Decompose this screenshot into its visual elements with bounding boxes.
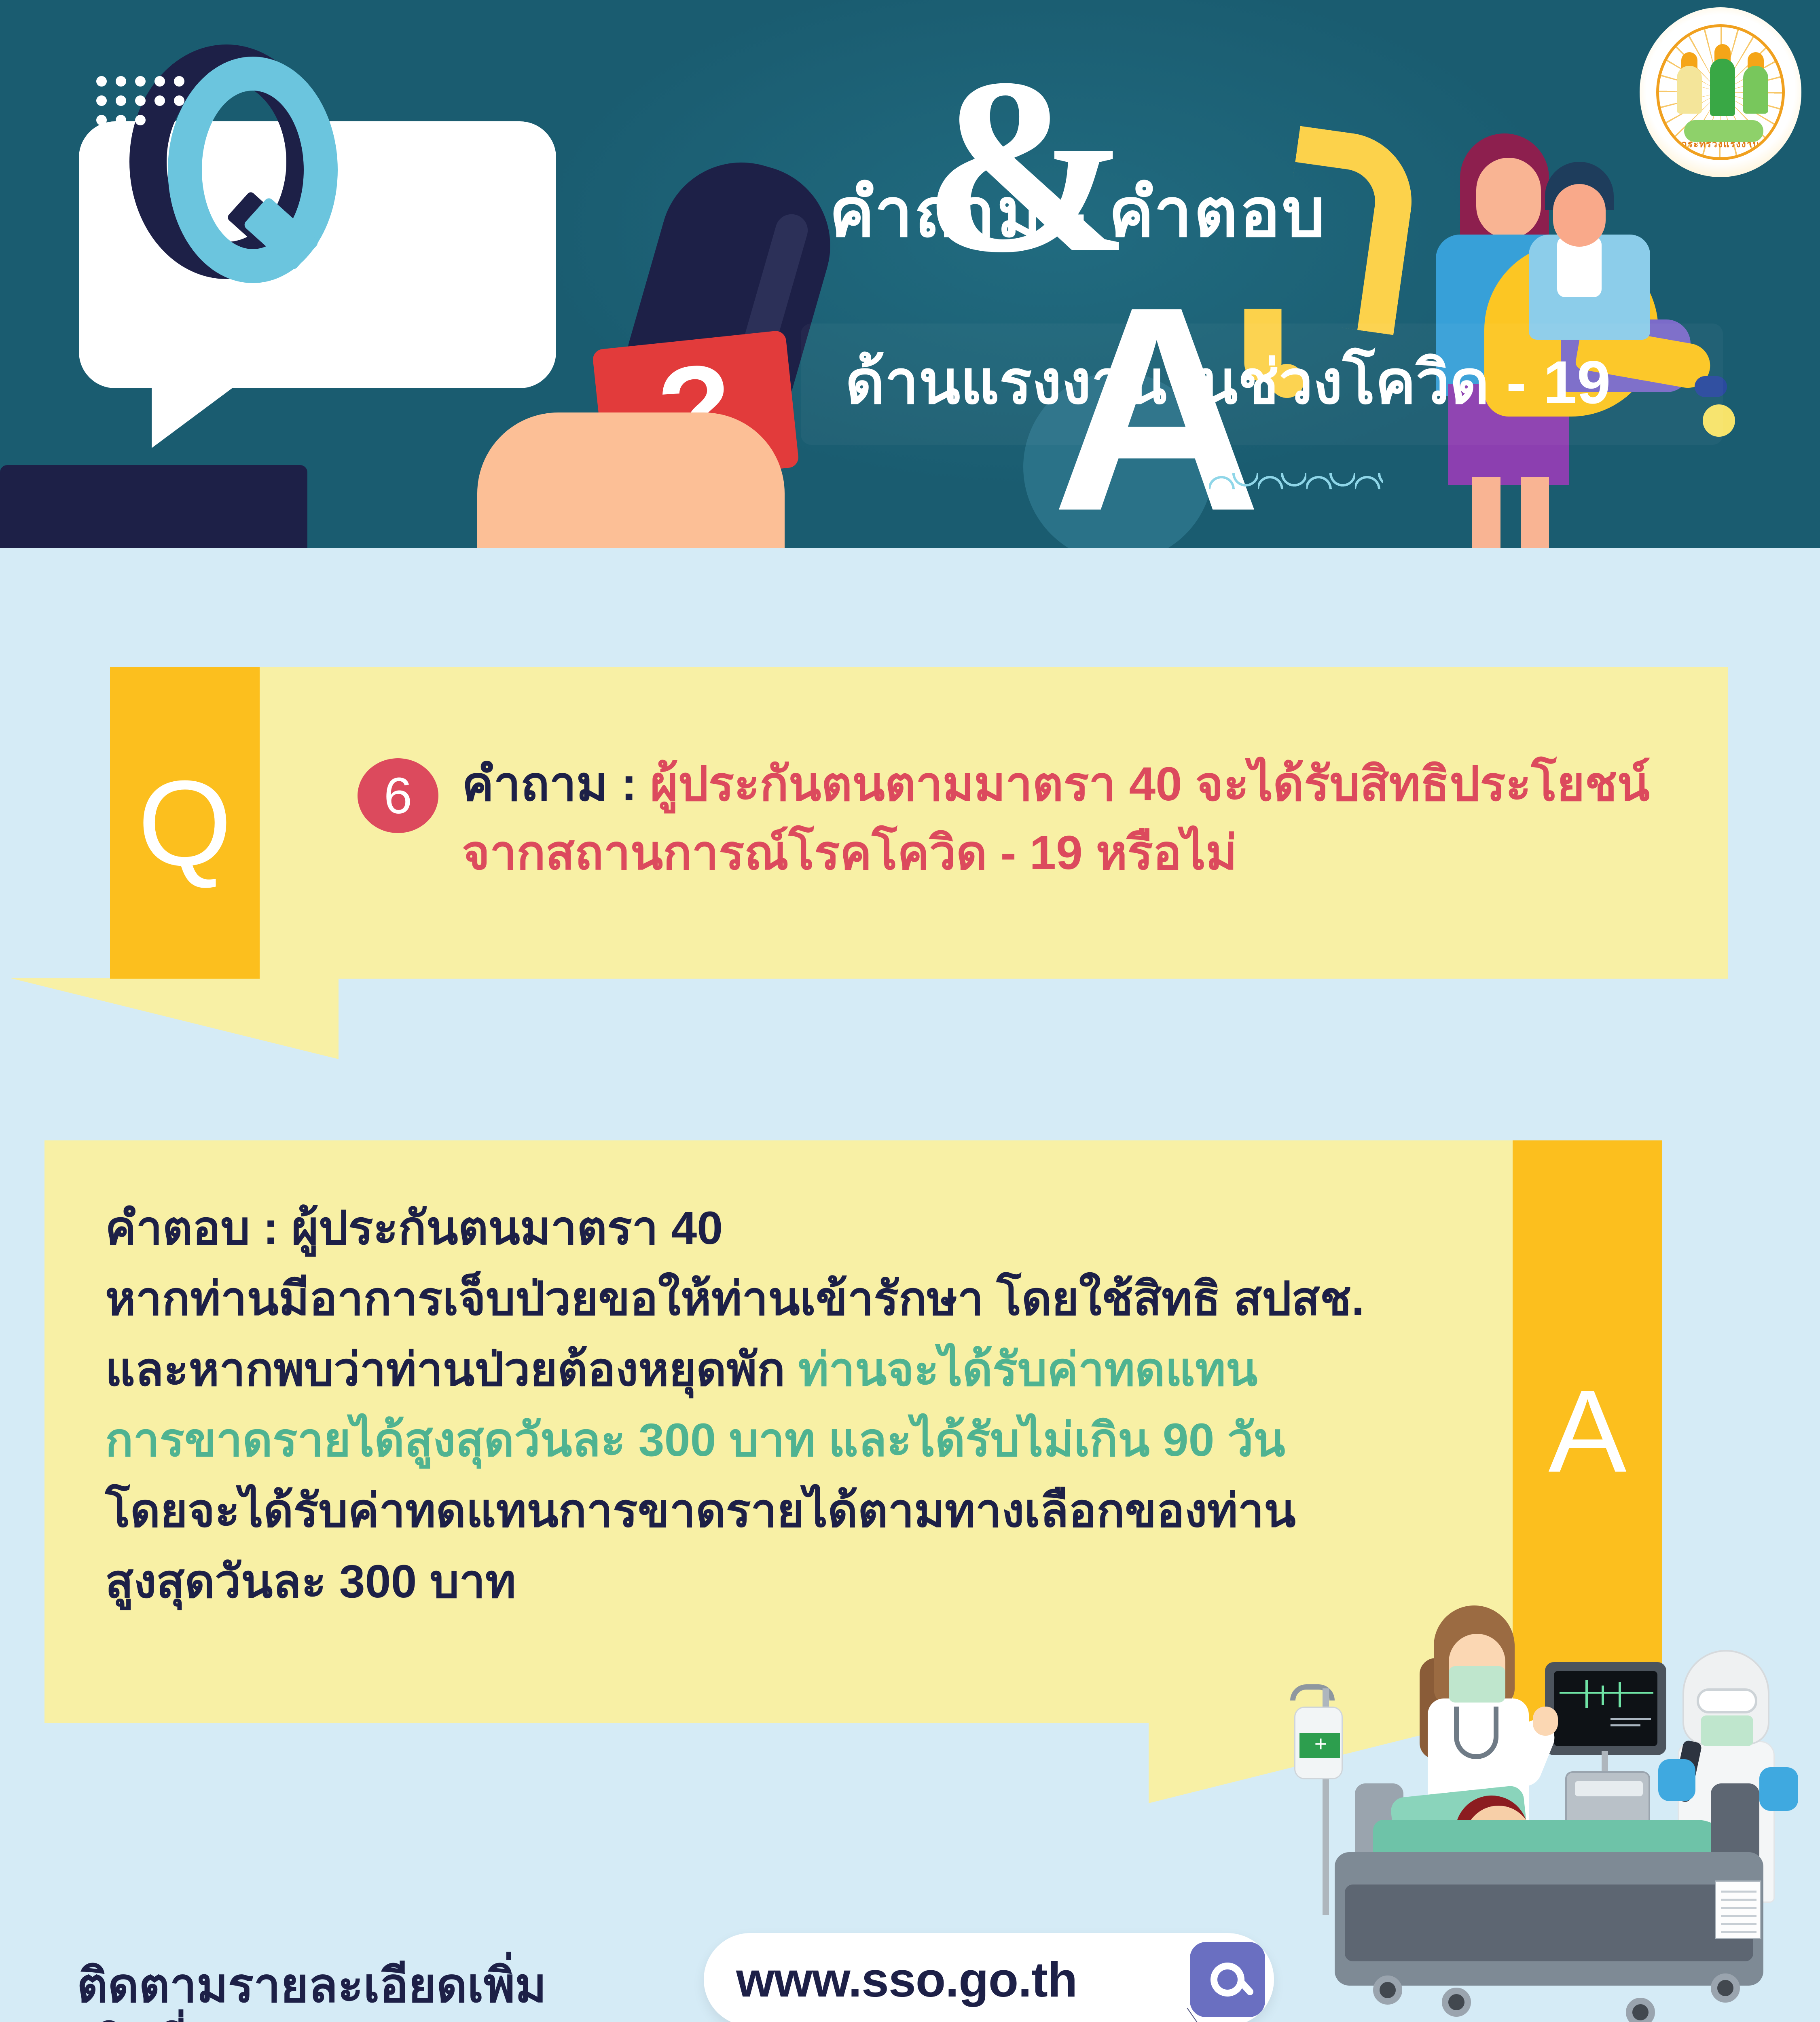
page-title: คำถาม - คำตอบ [829, 174, 1460, 252]
answer-line-3: และหากพบว่าท่านป่วยต้องหยุดพัก ท่านจะได้… [105, 1335, 1480, 1405]
question-line-1-text: ผู้ประกันตนตามมาตรา 40 จะได้รับสิทธิประโ… [650, 757, 1650, 811]
iv-bag-icon [1294, 1707, 1343, 1779]
page-subtitle: ด้านแรงงานในช่วงโควิด - 19 [845, 346, 1776, 419]
ministry-seal-logo: กระทรวงแรงงาน [1640, 7, 1801, 177]
question-number-badge: 6 [358, 758, 438, 833]
answer-text-block: คำตอบ : ผู้ประกันตนมาตรา 40 หากท่านมีอาก… [105, 1193, 1480, 1617]
question-card-tail [11, 978, 339, 1059]
question-tab-letter: Q [138, 766, 232, 881]
answer-line-1: คำตอบ : ผู้ประกันตนมาตรา 40 [105, 1193, 1480, 1264]
answer-line-5: โดยจะได้รับค่าทดแทนการขาดรายได้ตามทางเลื… [105, 1476, 1480, 1546]
question-line-2: จากสถานการณ์โรคโควิด - 19 หรือไม่ [462, 819, 1712, 888]
answer-line-2: หากท่านมีอาการเจ็บป่วยขอให้ท่านเข้ารักษา… [105, 1264, 1480, 1335]
hospital-scene-illustration [1306, 1601, 1820, 2022]
question-label: คำถาม : [462, 757, 650, 811]
seal-caption: กระทรวงแรงงาน [1659, 137, 1782, 152]
hand-holding-microphone [477, 412, 785, 548]
header-banner: & ? A คำถาม - คำตอบ ด้านแรงงานในช่วงโควิ… [0, 0, 1820, 548]
dot-pattern-decoration [96, 76, 218, 133]
question-card: Q 6 คำถาม : ผู้ประกันตนตามมาตรา 40 จะได้… [110, 667, 1728, 979]
sleeve-cuff [0, 465, 307, 548]
header-title-wrap: คำถาม - คำตอบ [829, 174, 1460, 252]
question-letter-tab: Q [110, 667, 260, 979]
answer-line-3-plain: และหากพบว่าท่านป่วยต้องหยุดพัก [105, 1344, 798, 1396]
patient-chart-icon [1715, 1880, 1761, 1939]
question-number: 6 [384, 770, 412, 821]
search-button[interactable] [1190, 1942, 1265, 2017]
question-text-block: คำถาม : ผู้ประกันตนตามมาตรา 40 จะได้รับส… [462, 750, 1712, 888]
answer-line-3-highlight: ท่านจะได้รับค่าทดแทน [798, 1344, 1257, 1396]
follow-label: ติดตามรายละเอียดเพิ่มเติมที่ [77, 1957, 603, 2022]
answer-tab-letter: A [1548, 1376, 1626, 1487]
website-url: www.sso.go.th [736, 1951, 1077, 2008]
question-line-1: คำถาม : ผู้ประกันตนตามมาตรา 40 จะได้รับส… [462, 750, 1712, 819]
squiggle-decoration [1209, 473, 1383, 489]
answer-line-4-highlight: การขาดรายได้สูงสุดวันละ 300 บาท และได้รั… [105, 1405, 1480, 1476]
heart-monitor-icon [1545, 1662, 1666, 1755]
magnifier-icon [1211, 1963, 1244, 1997]
answer-line-6: สูงสุดวันละ 300 บาท [105, 1546, 1480, 1617]
